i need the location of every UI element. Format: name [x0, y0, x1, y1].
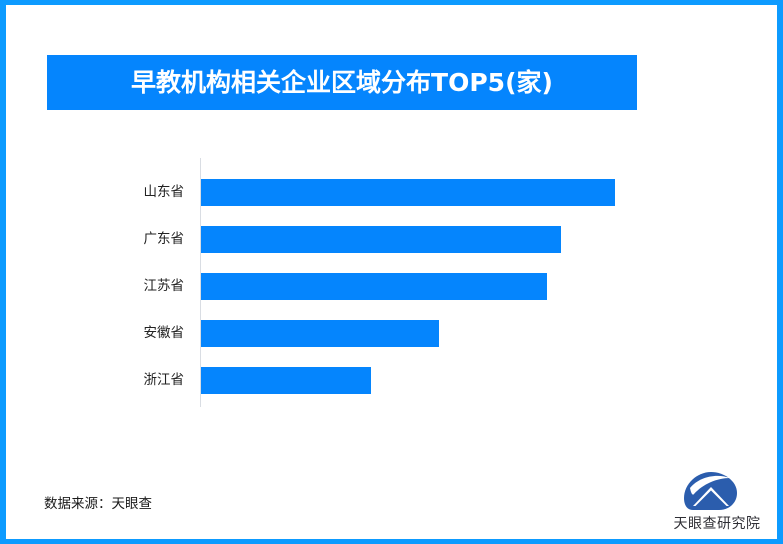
bar-segment	[201, 179, 615, 206]
data-source-note: 数据来源：天眼查	[44, 492, 152, 512]
plot-area: 山东省 广东省 江苏省 安徽省 浙江省	[200, 158, 670, 408]
category-label: 江苏省	[144, 273, 185, 300]
category-label: 山东省	[144, 179, 185, 206]
bar-segment	[201, 226, 561, 253]
bar-segment	[201, 273, 547, 300]
chart-title-banner: 早教机构相关企业区域分布TOP5(家)	[47, 55, 637, 110]
category-label: 安徽省	[144, 320, 185, 347]
tianyancha-logo-icon	[683, 471, 739, 511]
logo-wordmark: 天眼查研究院	[661, 513, 773, 533]
y-axis-line	[200, 158, 201, 407]
bar-segment	[201, 367, 371, 394]
brand-logo: 天眼查研究院	[661, 471, 773, 533]
poster-canvas: 早教机构相关企业区域分布TOP5(家) 山东省 广东省 江苏省 安徽省	[0, 0, 783, 544]
category-label: 浙江省	[144, 367, 185, 394]
bar-segment	[201, 320, 439, 347]
page-title: 早教机构相关企业区域分布TOP5(家)	[131, 70, 553, 95]
category-label: 广东省	[144, 226, 185, 253]
